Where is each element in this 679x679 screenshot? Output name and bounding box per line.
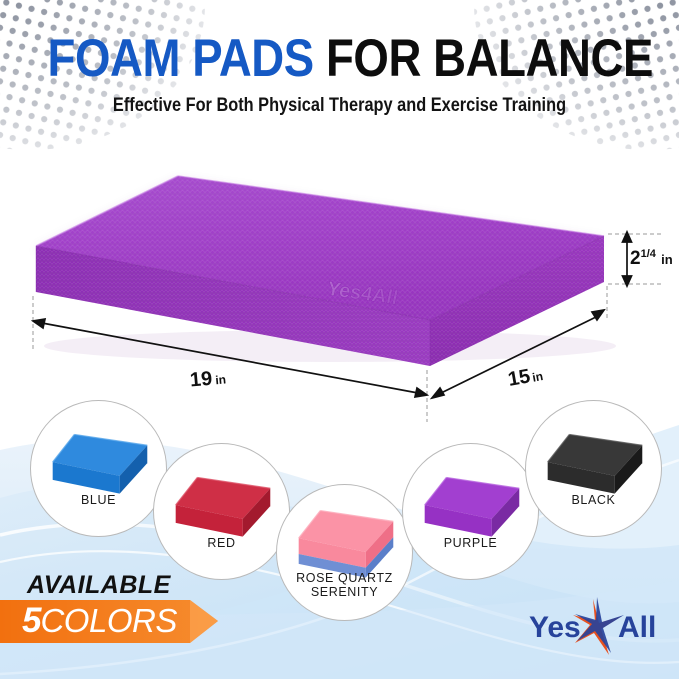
swatch-label-blue: BLUE — [31, 493, 166, 507]
color-swatch-purple[interactable]: PURPLE — [402, 443, 539, 580]
color-swatch-black[interactable]: BLACK — [525, 400, 662, 537]
colors-word: COLORS — [40, 602, 176, 639]
dimension-label-length: 19in — [189, 366, 227, 392]
dimension-label-height: 21/4 in — [630, 248, 673, 270]
title-rest: FOR BALANCE — [326, 29, 653, 88]
header: FOAM PADS FOR BALANCE Effective For Both… — [0, 30, 679, 117]
page-subtitle: Effective For Both Physical Therapy and … — [48, 95, 632, 117]
swatch-pad-black — [526, 401, 661, 536]
swatch-pad-rose-quartz-serenity — [277, 485, 412, 620]
color-swatch-blue[interactable]: BLUE — [30, 400, 167, 537]
swatch-pad-blue — [31, 401, 166, 536]
dim-height-fraction: 1/4 — [641, 248, 656, 260]
infographic-page: FOAM PADS FOR BALANCE Effective For Both… — [0, 0, 679, 679]
product-hero-image: Yes4All — [0, 150, 679, 440]
swatch-pad-purple — [403, 444, 538, 579]
swatch-label-red: RED — [154, 536, 289, 550]
color-swatch-rose-quartz-serenity[interactable]: ROSE QUARTZ SERENITY — [276, 484, 413, 621]
colors-count-text: 5COLORS — [22, 601, 177, 641]
dim-width-unit: in — [531, 369, 544, 385]
color-swatch-red[interactable]: RED — [153, 443, 290, 580]
dim-height-value: 2 — [630, 248, 641, 269]
swatch-label-purple: PURPLE — [403, 536, 538, 550]
available-label: AVAILABLE — [27, 571, 171, 600]
dim-height-unit: in — [661, 252, 673, 267]
logo-text-all: All — [618, 611, 656, 644]
swatch-label-black: BLACK — [526, 493, 661, 507]
dim-length-unit: in — [215, 372, 227, 387]
title-highlight: FOAM PADS — [48, 29, 314, 88]
swatch-label-rose-quartz-serenity: ROSE QUARTZ SERENITY — [277, 571, 412, 599]
swatch-label-line2: SERENITY — [311, 585, 378, 599]
swatch-label-line1: ROSE QUARTZ — [296, 571, 393, 585]
yes4all-logo: Yes All — [525, 595, 665, 657]
dim-width-value: 15 — [506, 365, 532, 391]
page-title: FOAM PADS FOR BALANCE — [48, 30, 632, 88]
dim-length-value: 19 — [189, 368, 213, 392]
swatch-pad-red — [154, 444, 289, 579]
colors-count: 5 — [22, 601, 40, 640]
logo-text-yes: Yes — [529, 611, 581, 644]
